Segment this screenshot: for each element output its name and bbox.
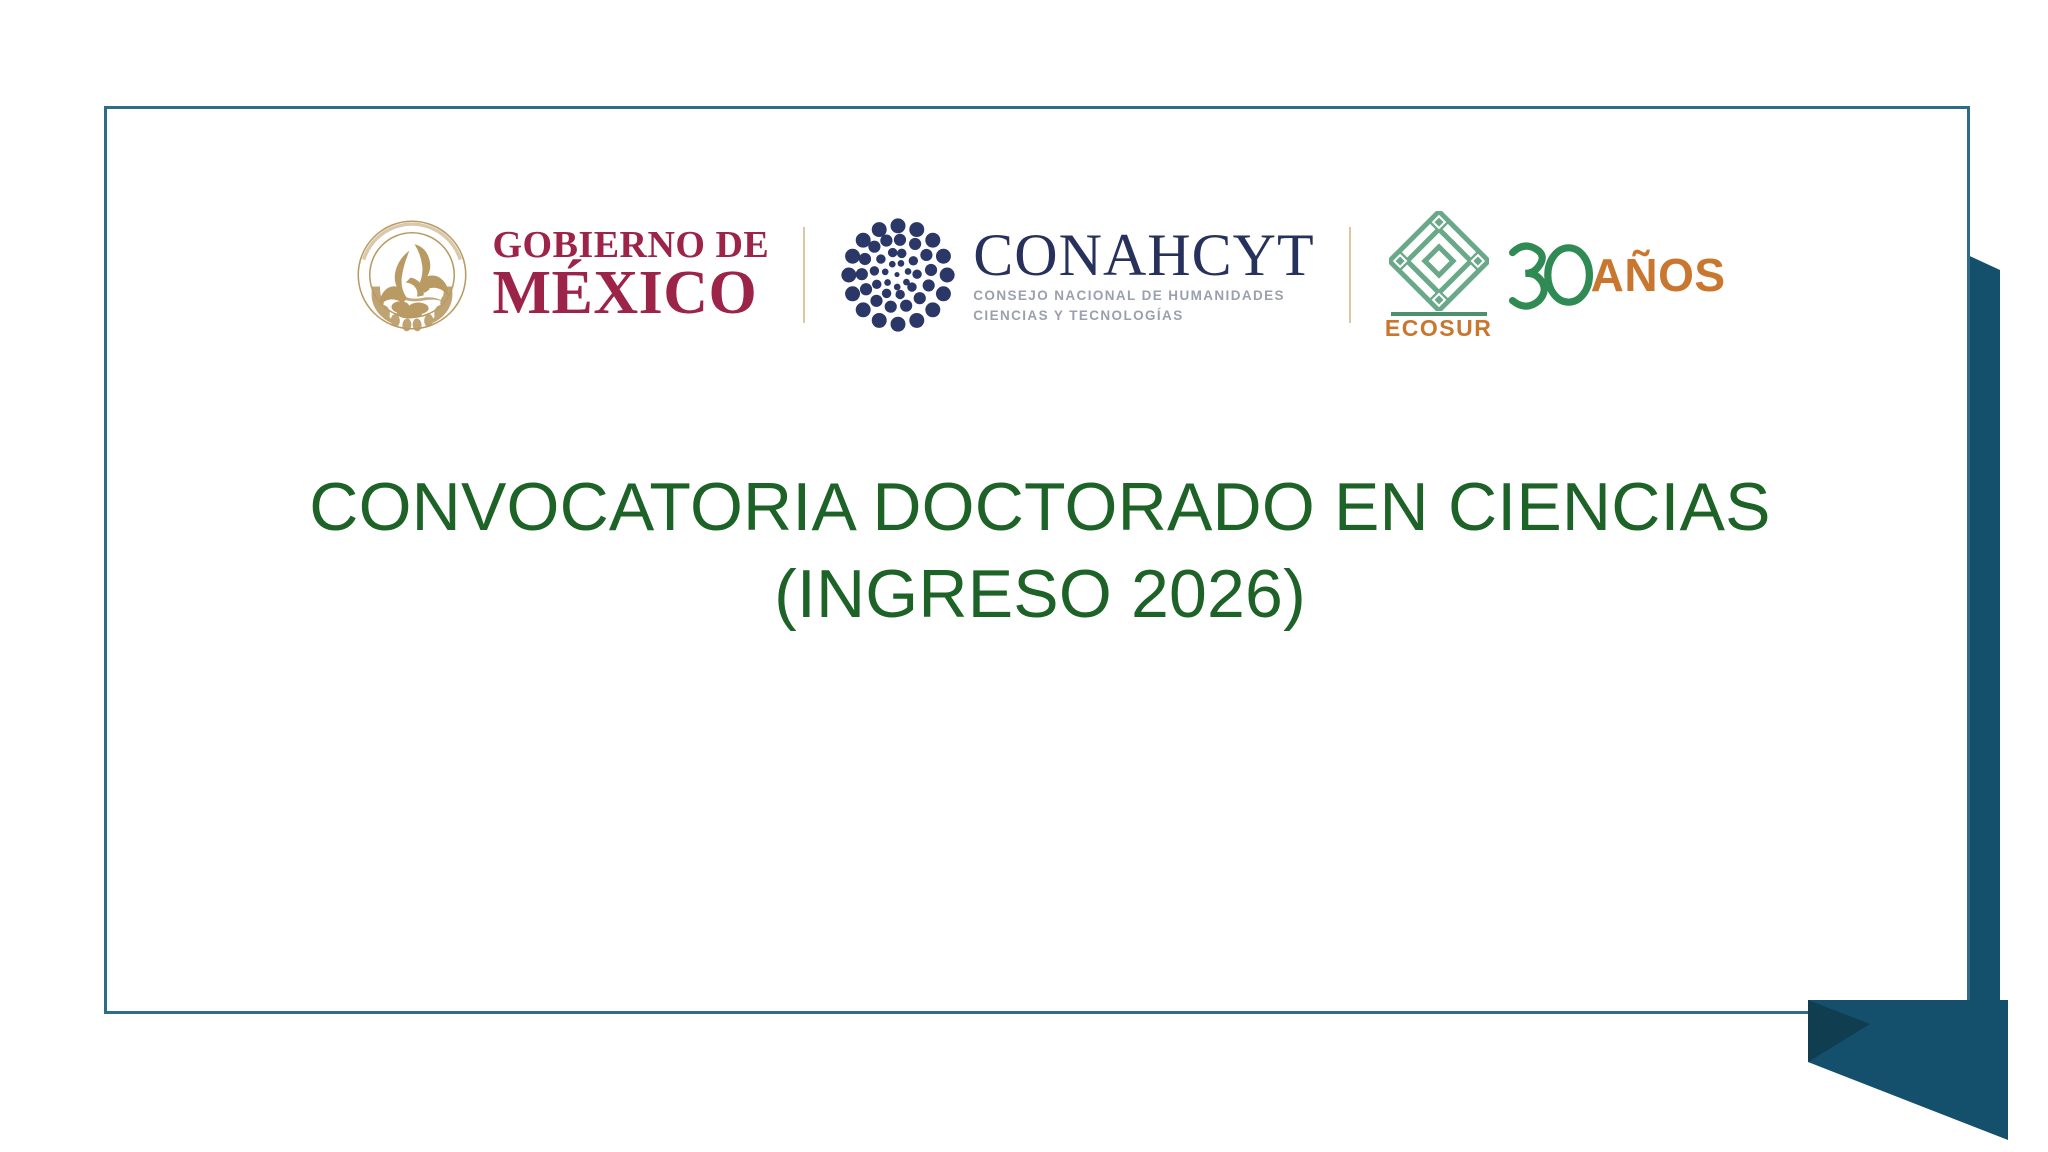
ecosur-30-numeral-icon xyxy=(1503,235,1595,315)
presentation-slide: ESTADOS UNIDOS MEXICANOS GOBIERNO DE MÉX… xyxy=(0,0,2048,1152)
conahcyt-name: CONAHCYT xyxy=(973,225,1314,286)
logo-strip: ESTADOS UNIDOS MEXICANOS GOBIERNO DE MÉX… xyxy=(104,190,1970,360)
conahcyt-wordmark: CONAHCYT CONSEJO NACIONAL DE HUMANIDADES… xyxy=(973,225,1314,325)
logo-divider-1 xyxy=(803,227,805,323)
slide-title-line2: (INGRESO 2026) xyxy=(180,551,1900,638)
conahcyt-subtitle-line2: CIENCIAS Y TECNOLOGÍAS xyxy=(973,306,1314,326)
ecosur-anniversary: AÑOS xyxy=(1503,235,1726,315)
ecosur-30-anos-logo: ECOSUR AÑOS xyxy=(1385,211,1726,340)
banner-fold-shape xyxy=(1678,1000,2008,1140)
slide-title: CONVOCATORIA DOCTORADO EN CIENCIAS (INGR… xyxy=(180,464,1900,638)
conahcyt-logo: CONAHCYT CONSEJO NACIONAL DE HUMANIDADES… xyxy=(839,216,1314,334)
conahcyt-subtitle-line1: CONSEJO NACIONAL DE HUMANIDADES xyxy=(973,286,1314,306)
ecosur-wordmark: ECOSUR xyxy=(1385,317,1493,340)
banner-fold-decoration xyxy=(1678,1000,2008,1140)
logo-divider-2 xyxy=(1349,227,1351,323)
ecosur-greca-diamond-icon xyxy=(1389,211,1489,311)
gobierno-line1: GOBIERNO DE xyxy=(492,227,769,264)
ecosur-markwrap: ECOSUR xyxy=(1385,211,1493,340)
ecosur-anos-label: AÑOS xyxy=(1591,248,1726,302)
gobierno-de-mexico-logo: ESTADOS UNIDOS MEXICANOS GOBIERNO DE MÉX… xyxy=(348,211,769,339)
slide-title-line1: CONVOCATORIA DOCTORADO EN CIENCIAS xyxy=(180,464,1900,551)
gobierno-line2: MÉXICO xyxy=(492,263,769,323)
mexican-coat-of-arms-icon: ESTADOS UNIDOS MEXICANOS xyxy=(348,211,476,339)
gobierno-wordmark: GOBIERNO DE MÉXICO xyxy=(492,227,769,324)
conahcyt-dot-spiral-icon xyxy=(839,216,957,334)
